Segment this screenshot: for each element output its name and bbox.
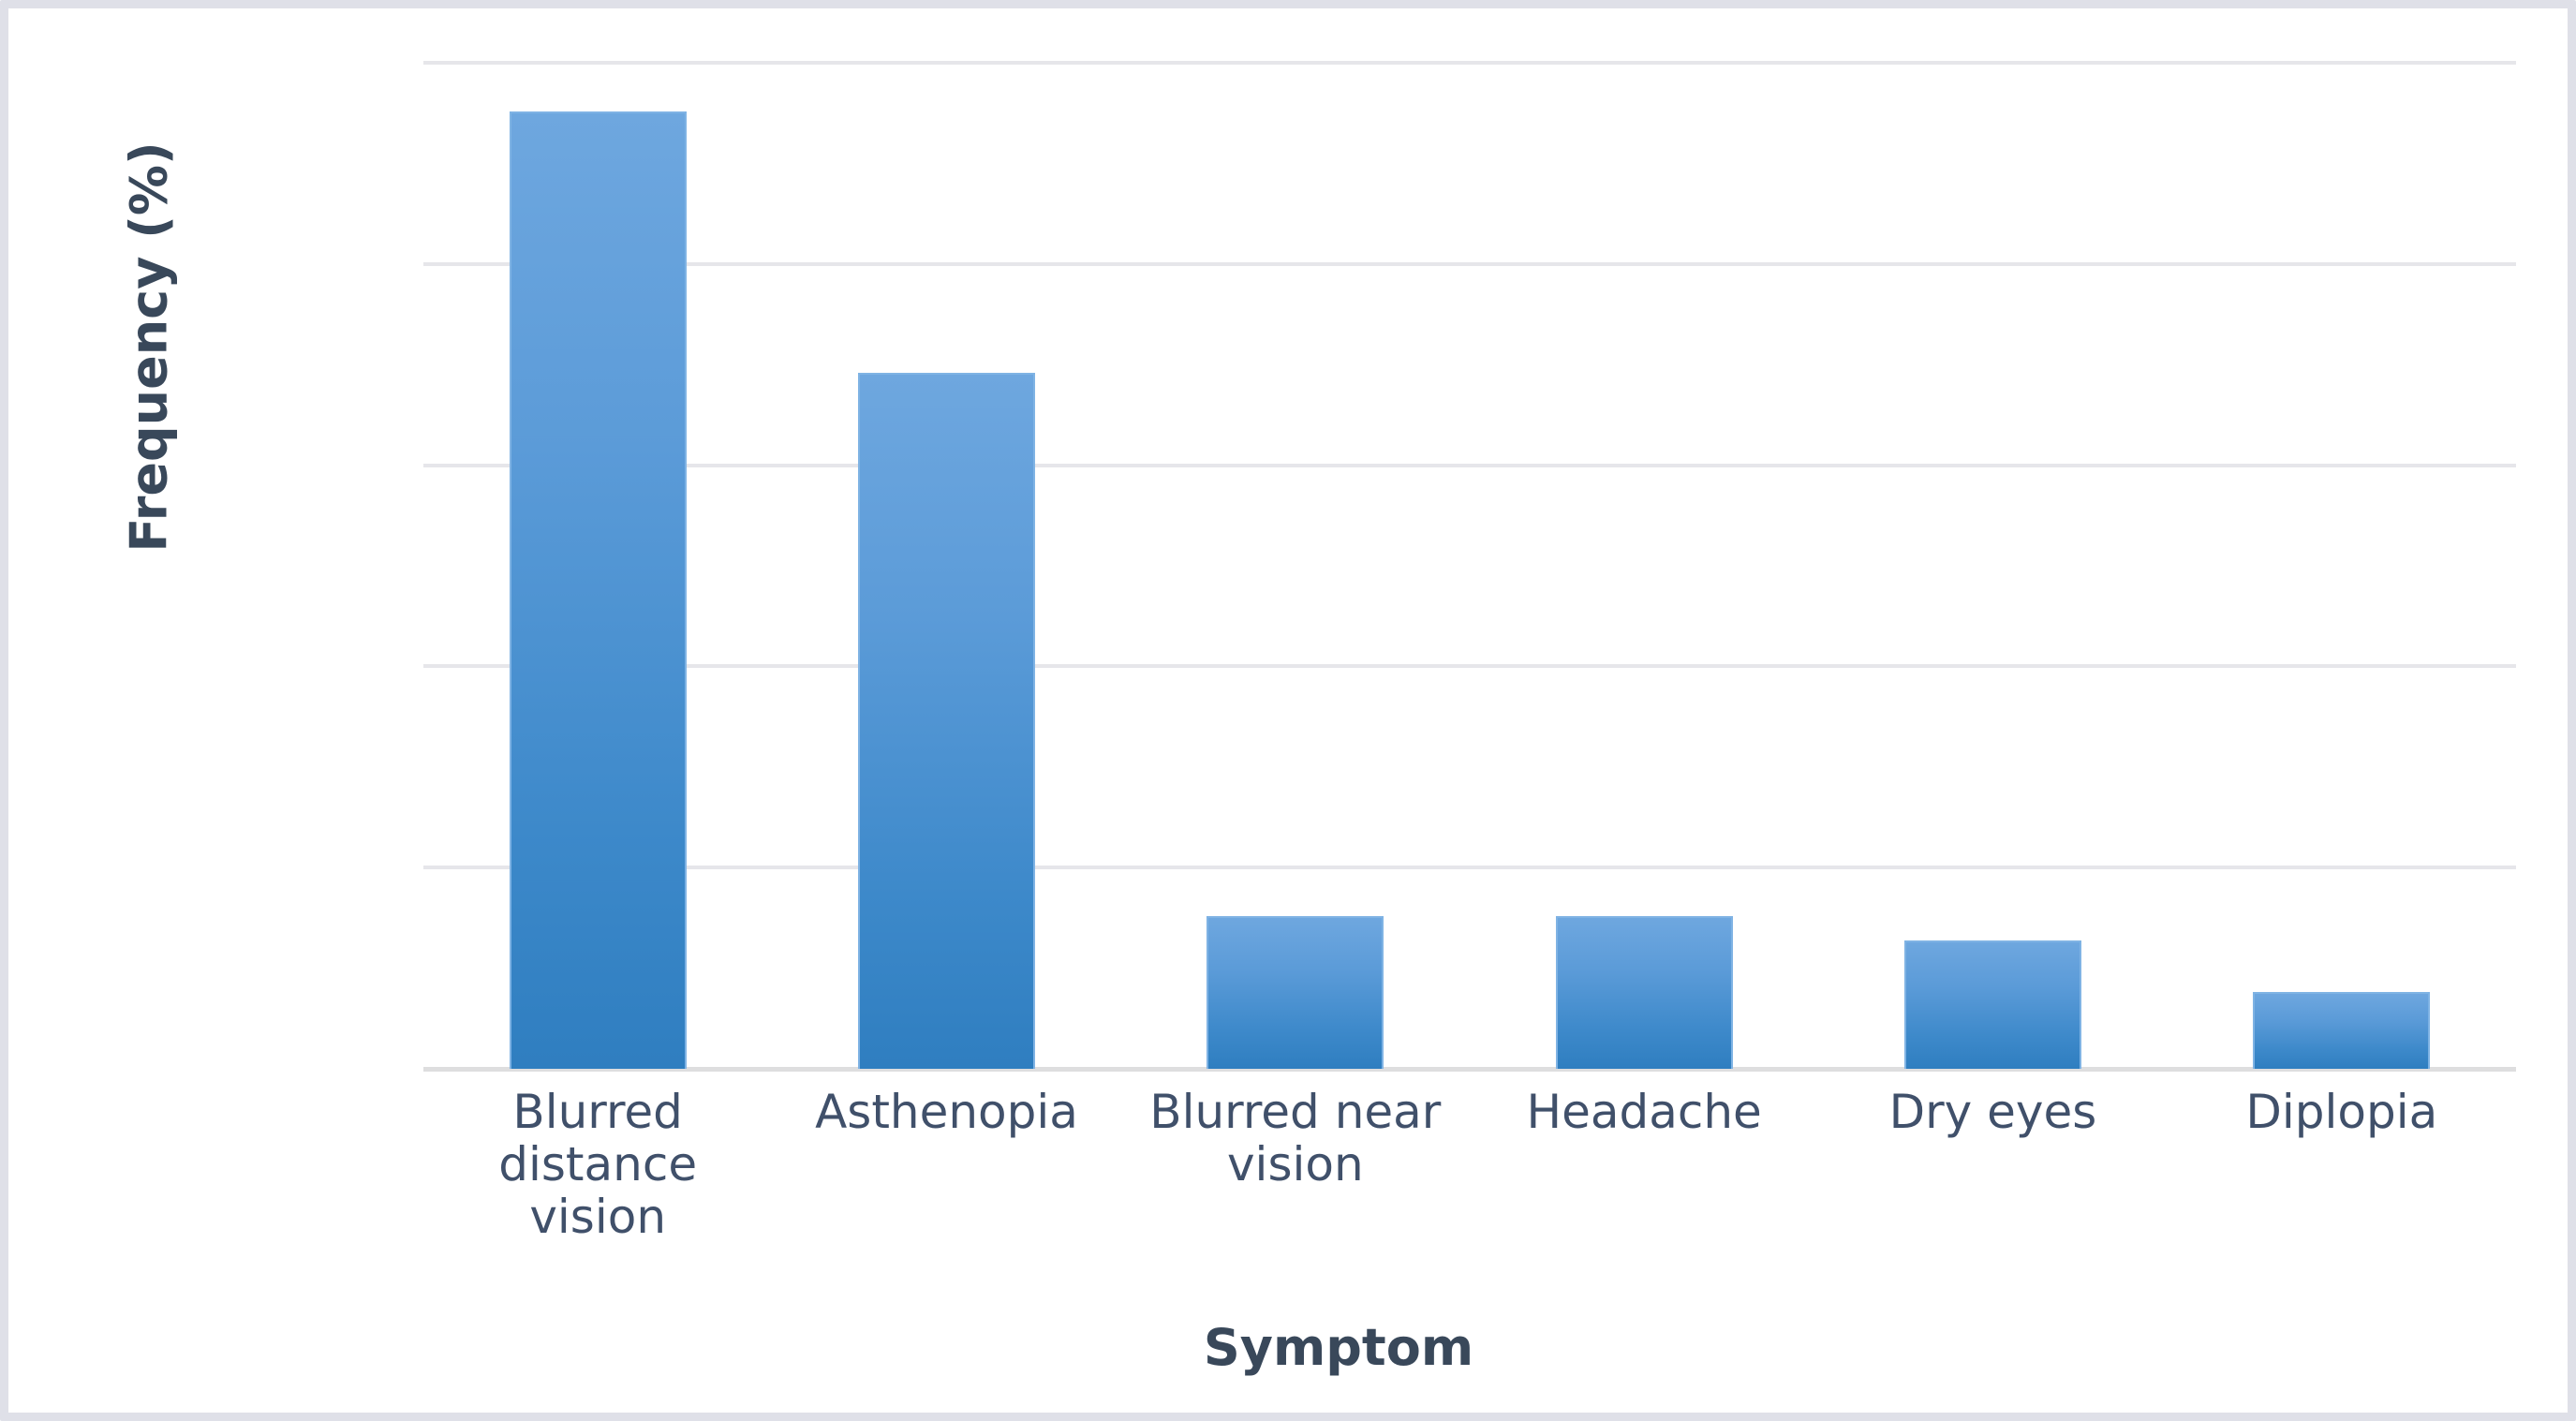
x-axis-tick-label: Diplopia — [2168, 1086, 2516, 1138]
x-axis-title-text: Symptom — [1204, 1318, 1473, 1377]
gridline — [423, 664, 2516, 668]
figure-frame: Frequency (%) 0510152025 Blurreddistance… — [0, 0, 2576, 1421]
bar — [1556, 916, 1733, 1069]
bar — [1904, 940, 2081, 1069]
bar — [858, 373, 1035, 1069]
x-axis-tick-label: Asthenopia — [772, 1086, 1120, 1138]
x-axis-tick-label-line: Diplopia — [2168, 1086, 2516, 1138]
x-axis-tick-label-line: distance — [423, 1138, 772, 1191]
plot-area: 0510152025 — [423, 63, 2516, 1069]
bar — [1207, 916, 1384, 1069]
bar — [2253, 992, 2430, 1069]
gridline — [423, 464, 2516, 467]
bar — [510, 111, 687, 1069]
x-axis-tick-label-line: vision — [1121, 1138, 1470, 1191]
x-axis-tick-label: Blurred nearvision — [1121, 1086, 1470, 1191]
x-axis-tick-label-line: Blurred near — [1121, 1086, 1470, 1138]
x-axis-tick-label-line: Headache — [1470, 1086, 1818, 1138]
x-axis-tick-label: Blurreddistancevision — [423, 1086, 772, 1243]
gridline — [423, 866, 2516, 869]
x-axis-tick-label: Dry eyes — [1818, 1086, 2167, 1138]
x-axis-title: Symptom — [8, 1318, 2576, 1377]
x-axis-tick-label-line: Dry eyes — [1818, 1086, 2167, 1138]
y-axis-title: Frequency (%) — [120, 85, 179, 610]
axis-baseline — [423, 1067, 2516, 1072]
gridline — [423, 61, 2516, 65]
x-axis-tick-label-line: vision — [423, 1191, 772, 1243]
x-axis-tick-label-line: Asthenopia — [772, 1086, 1120, 1138]
bar-chart: Frequency (%) 0510152025 Blurreddistance… — [8, 8, 2568, 1413]
gridline — [423, 262, 2516, 266]
x-axis-tick-label: Headache — [1470, 1086, 1818, 1138]
x-axis-tick-label-line: Blurred — [423, 1086, 772, 1138]
